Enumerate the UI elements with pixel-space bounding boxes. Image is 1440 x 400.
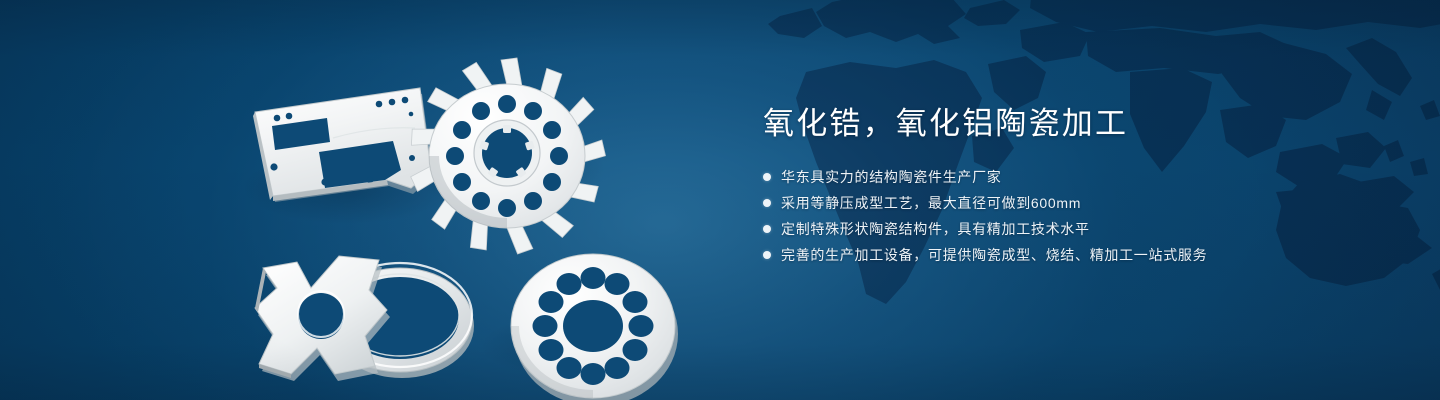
- feature-text: 定制特殊形状陶瓷结构件，具有精加工技术水平: [781, 218, 1090, 240]
- list-item: 完善的生产加工设备，可提供陶瓷成型、烧结、精加工一站式服务: [763, 244, 1383, 266]
- page-title: 氧化锆，氧化铝陶瓷加工: [763, 104, 1383, 144]
- feature-list: 华东具实力的结构陶瓷件生产厂家 采用等静压成型工艺，最大直径可做到600mm 定…: [763, 166, 1383, 266]
- banner-copy: 氧化锆，氧化铝陶瓷加工 华东具实力的结构陶瓷件生产厂家 采用等静压成型工艺，最大…: [763, 104, 1383, 270]
- list-item: 采用等静压成型工艺，最大直径可做到600mm: [763, 192, 1383, 214]
- feature-text: 完善的生产加工设备，可提供陶瓷成型、烧结、精加工一站式服务: [781, 244, 1207, 266]
- feature-text: 采用等静压成型工艺，最大直径可做到600mm: [781, 192, 1081, 214]
- bullet-dot-icon: [763, 225, 771, 233]
- list-item: 华东具实力的结构陶瓷件生产厂家: [763, 166, 1383, 188]
- list-item: 定制特殊形状陶瓷结构件，具有精加工技术水平: [763, 218, 1383, 240]
- hero-banner: 氧化锆，氧化铝陶瓷加工 华东具实力的结构陶瓷件生产厂家 采用等静压成型工艺，最大…: [0, 0, 1440, 400]
- feature-text: 华东具实力的结构陶瓷件生产厂家: [781, 166, 1002, 188]
- bullet-dot-icon: [763, 173, 771, 181]
- bullet-dot-icon: [763, 251, 771, 259]
- bullet-dot-icon: [763, 199, 771, 207]
